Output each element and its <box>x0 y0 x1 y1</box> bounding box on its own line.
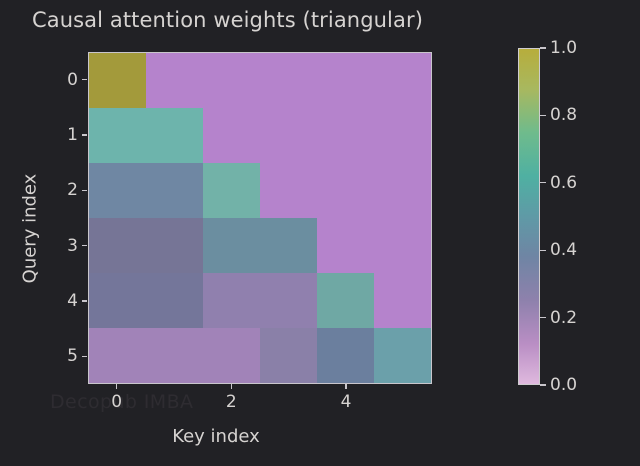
x-tick-mark <box>116 384 117 389</box>
heatmap-cell <box>89 108 146 163</box>
y-tick-label: 5 <box>67 346 78 366</box>
heatmap-cell <box>374 218 431 273</box>
heatmap-cell <box>146 108 203 163</box>
colorbar-tick-label: 0.6 <box>550 173 577 193</box>
colorbar-tick-label: 0.8 <box>550 105 577 125</box>
y-axis-title: Query index <box>20 99 41 359</box>
heatmap-cell <box>260 328 317 383</box>
heatmap-cell <box>203 218 260 273</box>
heatmap-grid <box>89 53 431 383</box>
colorbar-tick-mark <box>540 115 546 116</box>
heatmap-cell <box>317 108 374 163</box>
heatmap-cell <box>203 328 260 383</box>
heatmap-cell <box>146 273 203 328</box>
heatmap-cell <box>317 273 374 328</box>
heatmap-cell <box>374 328 431 383</box>
heatmap-cell <box>203 53 260 108</box>
colorbar[interactable] <box>518 48 540 385</box>
heatmap-cell <box>317 218 374 273</box>
x-tick-label: 0 <box>111 392 122 412</box>
heatmap-cell <box>146 218 203 273</box>
heatmap-cell <box>146 328 203 383</box>
heatmap-cell <box>203 108 260 163</box>
y-tick-mark <box>82 134 87 135</box>
x-tick-label: 4 <box>341 392 352 412</box>
y-tick-label: 4 <box>67 291 78 311</box>
heatmap-cell <box>89 53 146 108</box>
heatmap-cell <box>317 163 374 218</box>
heatmap-cell <box>89 218 146 273</box>
colorbar-tick-mark <box>540 47 546 48</box>
heatmap-cell <box>203 163 260 218</box>
chart-canvas: Causal attention weights (triangular) Ke… <box>0 0 640 466</box>
heatmap-cell <box>89 163 146 218</box>
y-tick-label: 1 <box>67 125 78 145</box>
x-tick-mark <box>345 384 346 389</box>
colorbar-tick-label: 1.0 <box>550 38 577 58</box>
heatmap-cell <box>146 163 203 218</box>
heatmap-cell <box>374 163 431 218</box>
y-tick-label: 2 <box>67 180 78 200</box>
colorbar-tick-mark <box>540 317 546 318</box>
heatmap-cell <box>89 273 146 328</box>
colorbar-tick-mark <box>540 250 546 251</box>
heatmap-cell <box>260 218 317 273</box>
colorbar-tick-label: 0.4 <box>550 240 577 260</box>
heatmap-cell <box>260 273 317 328</box>
y-tick-label: 0 <box>67 70 78 90</box>
colorbar-tick-mark <box>540 182 546 183</box>
heatmap-cell <box>317 328 374 383</box>
heatmap-cell <box>374 108 431 163</box>
heatmap-cell <box>89 328 146 383</box>
x-tick-label: 2 <box>226 392 237 412</box>
heatmap-cell <box>260 53 317 108</box>
heatmap-cell <box>203 273 260 328</box>
chart-title: Causal attention weights (triangular) <box>32 8 423 32</box>
heatmap-cell <box>317 53 374 108</box>
colorbar-tick-mark <box>540 384 546 385</box>
heatmap-cell <box>260 163 317 218</box>
y-tick-mark <box>82 79 87 80</box>
y-tick-mark <box>82 356 87 357</box>
x-axis-title: Key index <box>0 426 432 447</box>
heatmap-cell <box>374 273 431 328</box>
x-tick-mark <box>231 384 232 389</box>
colorbar-tick-label: 0.0 <box>550 375 577 395</box>
y-tick-label: 3 <box>67 236 78 256</box>
colorbar-tick-label: 0.2 <box>550 308 577 328</box>
y-tick-mark <box>82 245 87 246</box>
y-tick-mark <box>82 190 87 191</box>
heatmap-cell <box>146 53 203 108</box>
heatmap-cell <box>374 53 431 108</box>
colorbar-gradient <box>518 48 540 385</box>
heatmap-plot-area[interactable] <box>88 52 432 384</box>
y-tick-mark <box>82 300 87 301</box>
heatmap-cell <box>260 108 317 163</box>
